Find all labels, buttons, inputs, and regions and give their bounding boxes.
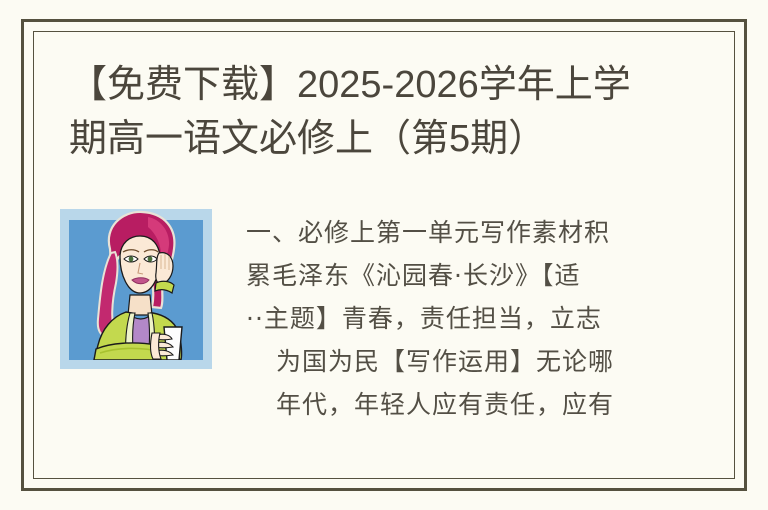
article-body-line-3: ··主题】青春，责任担当，立志: [246, 297, 708, 340]
article-body-line-1: 一、必修上第一单元写作素材积: [246, 211, 708, 254]
article-content-row: 一、必修上第一单元写作素材积 累毛泽东《沁园春·长沙》【适 ··主题】青春，责任…: [60, 209, 710, 469]
card-outer-border: 【免费下载】2025-2026学年上学 期高一语文必修上（第5期）: [21, 19, 747, 491]
article-body: 一、必修上第一单元写作素材积 累毛泽东《沁园春·长沙》【适 ··主题】青春，责任…: [246, 211, 708, 426]
article-body-line-5: 年代，年轻人应有责任，应有: [246, 383, 708, 426]
article-thumbnail[interactable]: [60, 209, 212, 369]
page-title-line-1: 【免费下载】2025-2026学年上学: [69, 58, 705, 112]
article-body-line-2: 累毛泽东《沁园春·长沙》【适: [246, 254, 708, 297]
article-card: 【免费下载】2025-2026学年上学 期高一语文必修上（第5期）: [0, 0, 768, 510]
page-title-line-2: 期高一语文必修上（第5期）: [69, 112, 705, 166]
article-body-line-4: 为国为民【写作运用】无论哪: [246, 340, 708, 383]
woman-with-cup-illustration: [60, 209, 212, 369]
page-title: 【免费下载】2025-2026学年上学 期高一语文必修上（第5期）: [69, 58, 705, 166]
